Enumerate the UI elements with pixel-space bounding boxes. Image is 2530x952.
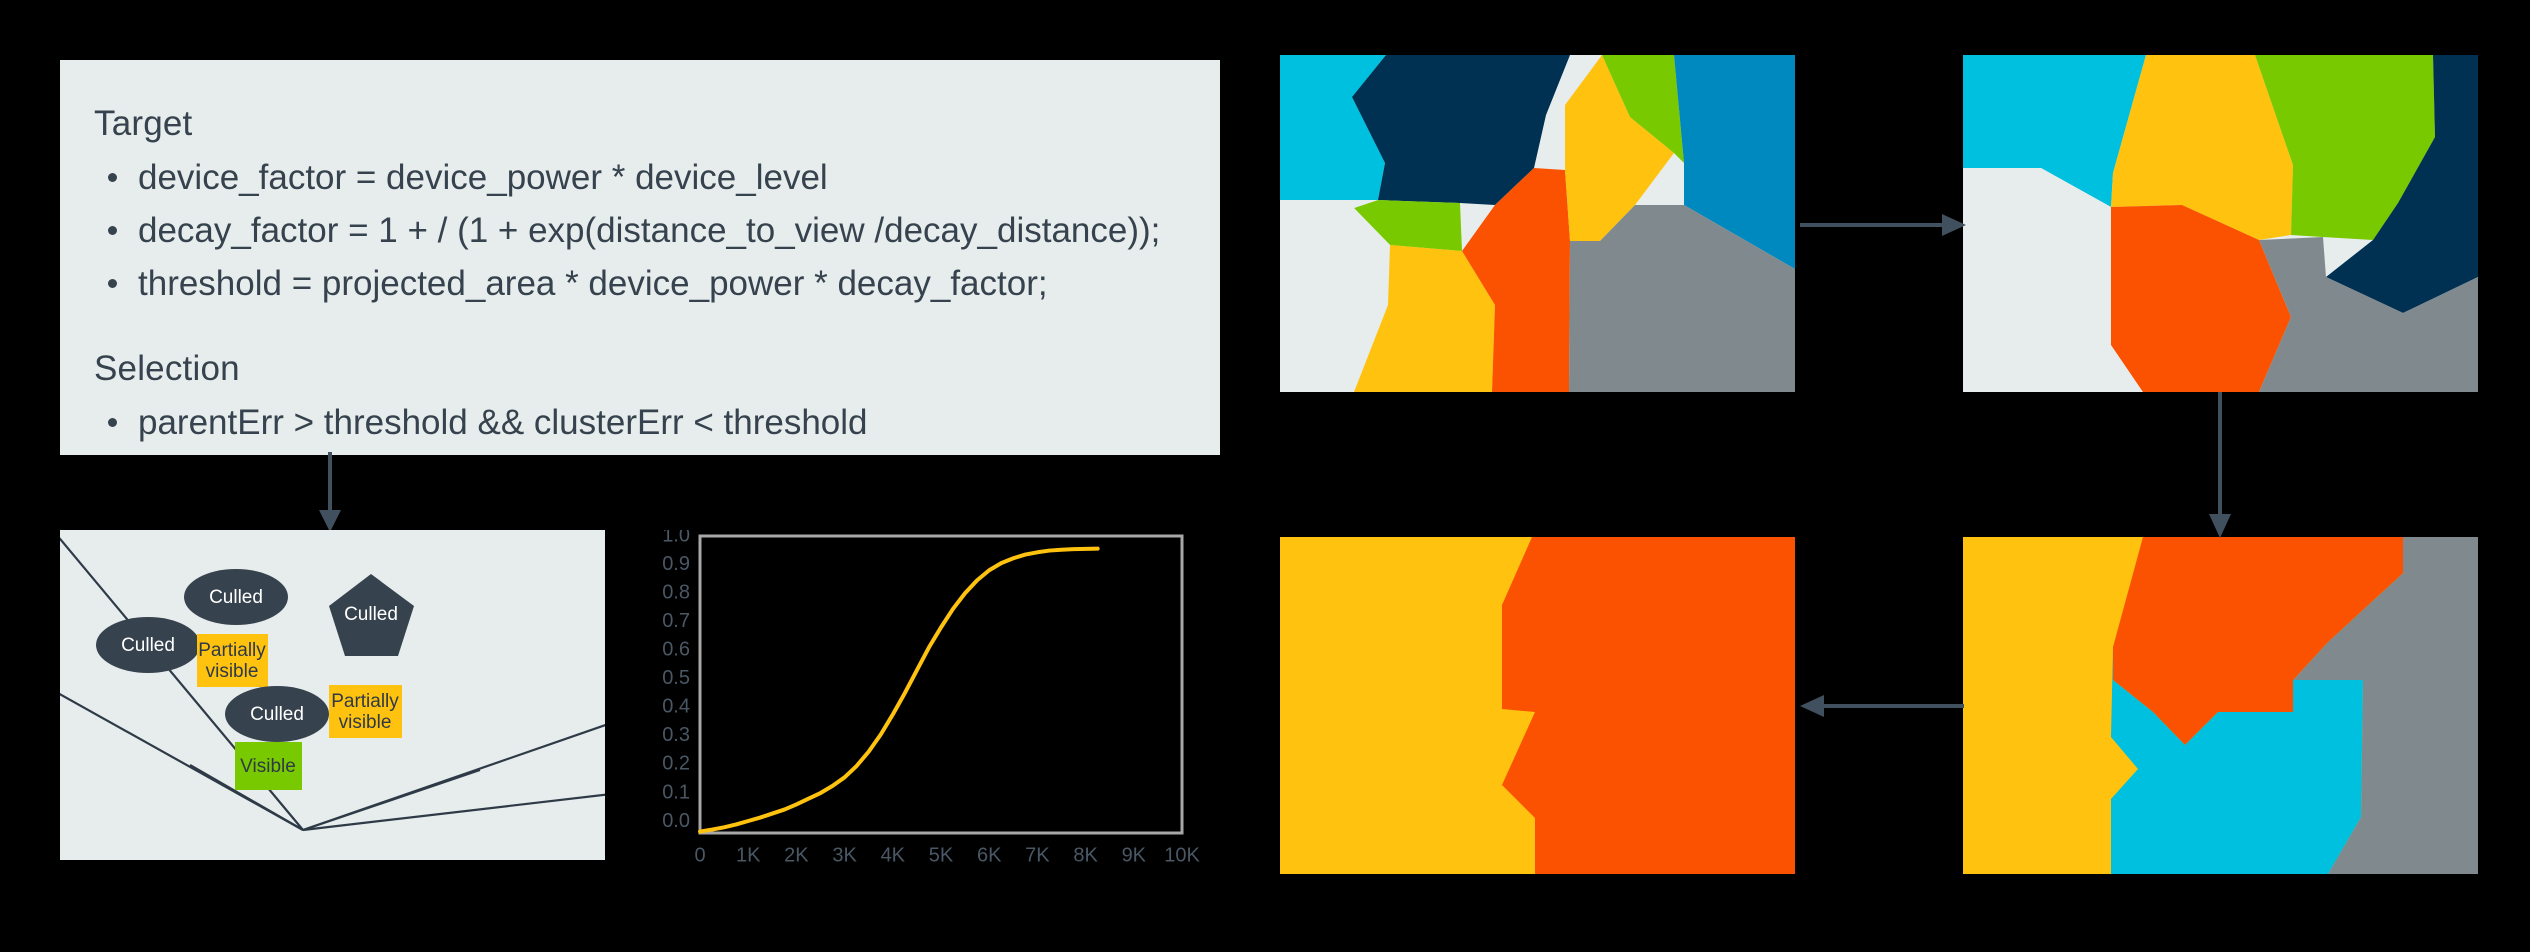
cluster-panel-top-right	[1963, 55, 2478, 392]
cluster-region-orange	[1502, 537, 1795, 874]
x-tick-label: 10K	[1164, 845, 1200, 867]
x-tick-label: 4K	[881, 845, 906, 867]
node-label: Partially	[198, 640, 266, 661]
svg-text:visible: visible	[206, 661, 259, 682]
cluster-panel-bottom-right	[1963, 537, 2478, 874]
arrow-formula-to-culling	[310, 452, 350, 536]
list-item: device_factor = device_power * device_le…	[94, 151, 1220, 204]
y-tick-label: 0.3	[662, 724, 690, 746]
node-culled-1: Culled	[184, 569, 288, 625]
node-partially-visible-2: Partially visible	[329, 685, 402, 738]
target-heading: Target	[94, 106, 1220, 141]
frustum-lines	[60, 534, 605, 830]
node-culled-3: Culled	[225, 686, 329, 742]
x-tick-label: 1K	[736, 845, 761, 867]
node-label: Culled	[209, 587, 263, 608]
x-tick-label: 3K	[832, 845, 857, 867]
node-visible: Visible	[235, 742, 302, 790]
x-axis-ticks: 01K2K3K4K5K6K7K8K9K10K	[694, 845, 1200, 867]
plot-frame	[700, 536, 1182, 833]
y-tick-label: 0.5	[662, 667, 690, 689]
cluster-panel-top-left	[1280, 55, 1795, 392]
node-label: Partially	[331, 691, 399, 712]
list-item: parentErr > threshold && clusterErr < th…	[94, 396, 1220, 449]
selection-bullet-list: parentErr > threshold && clusterErr < th…	[94, 396, 1220, 449]
y-axis-ticks: 0.00.10.20.30.40.50.60.70.80.91.0	[662, 530, 690, 832]
x-tick-label: 5K	[929, 845, 954, 867]
x-tick-label: 9K	[1122, 845, 1147, 867]
culling-diagram: Culled Culled Culled Partially visible C…	[60, 530, 605, 860]
decay-factor-chart: 0.00.10.20.30.40.50.60.70.80.91.0 01K2K3…	[640, 530, 1240, 900]
node-label: Culled	[344, 604, 398, 625]
formula-card: Target device_factor = device_power * de…	[60, 60, 1220, 455]
node-label: Visible	[240, 756, 296, 777]
y-tick-label: 0.7	[662, 610, 690, 632]
node-label: Culled	[250, 704, 304, 725]
y-tick-label: 0.1	[662, 781, 690, 803]
node-partially-visible-1: Partially visible	[197, 634, 268, 687]
arrow-cluster-tr-to-br	[2200, 392, 2240, 542]
x-tick-label: 0	[694, 845, 705, 867]
x-tick-label: 6K	[977, 845, 1002, 867]
node-culled-pentagon: Culled	[329, 574, 414, 656]
selection-heading: Selection	[94, 351, 1220, 386]
cluster-panel-bottom-left	[1280, 537, 1795, 874]
y-tick-label: 0.9	[662, 553, 690, 575]
x-tick-label: 8K	[1073, 845, 1098, 867]
y-tick-label: 0.2	[662, 753, 690, 775]
arrow-cluster-br-to-bl	[1798, 686, 1968, 726]
decay-curve	[700, 549, 1098, 832]
arrow-cluster-tl-to-tr	[1800, 205, 1970, 245]
list-item: decay_factor = 1 + / (1 + exp(distance_t…	[94, 204, 1220, 257]
node-culled-2: Culled	[96, 617, 200, 673]
y-tick-label: 0.8	[662, 581, 690, 603]
y-tick-label: 0.0	[662, 810, 690, 832]
y-tick-label: 0.4	[662, 696, 690, 718]
node-label: Culled	[121, 635, 175, 656]
svg-text:visible: visible	[339, 712, 392, 733]
target-bullet-list: device_factor = device_power * device_le…	[94, 151, 1220, 311]
x-tick-label: 7K	[1025, 845, 1050, 867]
y-tick-label: 1.0	[662, 530, 690, 546]
y-tick-label: 0.6	[662, 639, 690, 661]
x-tick-label: 2K	[784, 845, 809, 867]
spacer	[94, 311, 1220, 351]
list-item: threshold = projected_area * device_powe…	[94, 257, 1220, 310]
